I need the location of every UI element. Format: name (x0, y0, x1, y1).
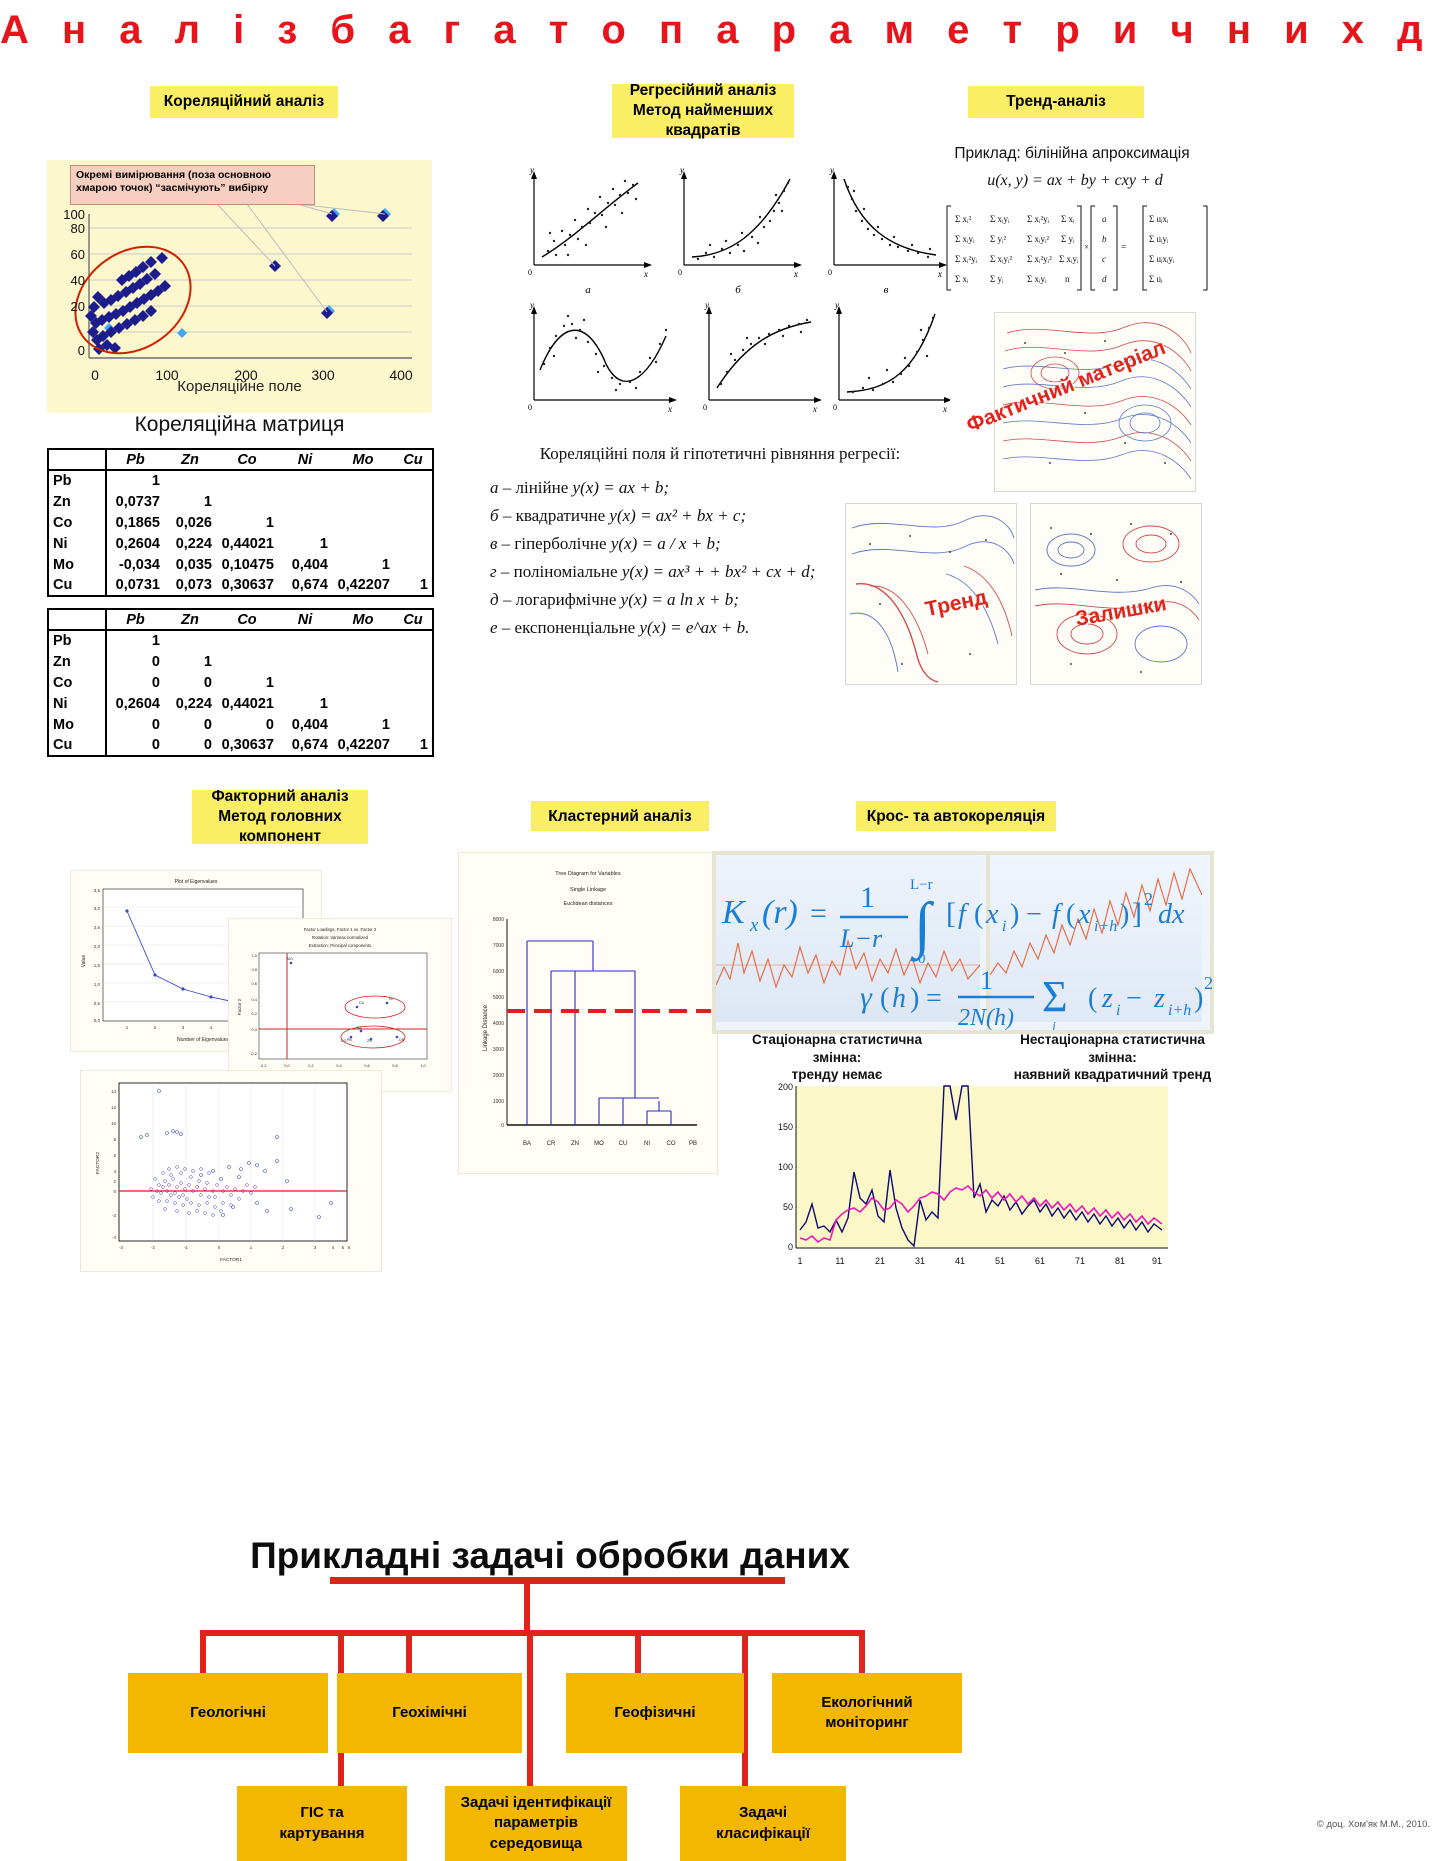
matrix1-r5-c2: 0,073 (164, 575, 216, 596)
regression-sample-plots: y x 0 а y x 0 (520, 165, 950, 420)
crosscorrelation-timeseries-chart: 200150100 500 11121 314151 617181 91 (772, 1080, 1172, 1280)
svg-text:3000: 3000 (493, 1047, 504, 1053)
svg-text:Σ yᵢ²: Σ yᵢ² (990, 234, 1006, 244)
matrix1-r5-c1: 0,0731 (106, 575, 164, 596)
svg-text:i: i (1052, 1020, 1056, 1030)
svg-text:0,8: 0,8 (251, 967, 257, 972)
section-header-factor-line1: Факторний аналіз (202, 787, 358, 807)
svg-text:ZN: ZN (367, 1039, 372, 1043)
svg-text:2,0: 2,0 (94, 944, 101, 949)
svg-text:y: y (679, 165, 684, 175)
svg-text:L−r: L−r (839, 924, 883, 953)
matrix2-r5-c6: 1 (394, 735, 433, 756)
app-box-classification-line1: Задачі (739, 1803, 787, 1823)
matrix1-r0-c6 (394, 470, 433, 491)
svg-text:2: 2 (1144, 889, 1153, 909)
svg-text:Linkage Distance: Linkage Distance (483, 1004, 489, 1051)
crosscorr-caption-left: Стаціонарна статистична змінна: тренду н… (742, 1031, 932, 1084)
svg-text:Σ uᵢxᵢyᵢ: Σ uᵢxᵢyᵢ (1149, 254, 1175, 264)
cluster-dendrogram-panel: Tree Diagram for Variables Single Linkag… (458, 852, 718, 1174)
svg-text:h: h (892, 983, 906, 1014)
regression-item-1-text: квадратичне (516, 506, 606, 525)
svg-text:z: z (1153, 983, 1165, 1014)
matrix2-r4-c1: 0 (106, 714, 164, 735)
matrix2-r5-c0: Cu (48, 735, 106, 756)
svg-text:x: x (1077, 899, 1091, 930)
svg-text:200: 200 (778, 1082, 793, 1092)
svg-text:150: 150 (778, 1122, 793, 1132)
svg-text:MO: MO (287, 957, 293, 961)
matrix2-r4-c5: 1 (332, 714, 394, 735)
svg-text:51: 51 (995, 1256, 1005, 1266)
matrix2-r3-c6 (394, 693, 433, 714)
title-underline (330, 1577, 785, 1584)
matrix1-col-6: Cu (394, 449, 433, 470)
svg-text:Σ xᵢ²yᵢ: Σ xᵢ²yᵢ (1027, 214, 1050, 224)
matrix2-col-0 (48, 609, 106, 630)
regression-item-2-eq: y(x) = a / x + b; (611, 534, 721, 553)
matrix1-col-1: Pb (106, 449, 164, 470)
svg-text:Σ xᵢ²yᵢ: Σ xᵢ²yᵢ (955, 254, 978, 264)
svg-text:i+h: i+h (1168, 1002, 1191, 1019)
svg-text:Σ xᵢ: Σ xᵢ (1061, 214, 1075, 224)
svg-text:21: 21 (875, 1256, 885, 1266)
matrix2-r3-c2: 0,224 (164, 693, 216, 714)
matrix2-r0-c6 (394, 630, 433, 651)
svg-text:6000: 6000 (493, 969, 504, 975)
svg-text:L−r: L−r (910, 877, 933, 893)
regression-item-4-eq: y(x) = a ln x + b; (621, 590, 739, 609)
svg-text:Σ xᵢyᵢ²: Σ xᵢyᵢ² (1027, 234, 1049, 244)
svg-text:14: 14 (111, 1089, 116, 1094)
regression-item-0-key: а (490, 478, 499, 497)
matrix2-r5-c3: 0,30637 (216, 735, 278, 756)
svg-text:0,2: 0,2 (308, 1063, 314, 1068)
svg-text:Σ xᵢ: Σ xᵢ (955, 274, 969, 284)
svg-text:]: ] (1132, 897, 1142, 930)
matrix1-r3-c5 (332, 533, 394, 554)
svg-text:x: x (749, 915, 759, 936)
matrix1-r3-c4: 1 (278, 533, 332, 554)
table-row: Ni 0,2604 0,224 0,44021 1 (48, 533, 433, 554)
matrix1-r3-c2: 0,224 (164, 533, 216, 554)
svg-text:2N(h): 2N(h) (958, 1005, 1014, 1030)
factor-scatter-plot: 141210 864 20-2-4 -3-2-1 012 3456 FACTOR… (81, 1071, 381, 1271)
matrix1-r2-c2: 0,026 (164, 512, 216, 533)
svg-text:x: x (812, 404, 817, 414)
app-box-gis-line1: ГІС та (300, 1803, 343, 1823)
trend-formula: u(x, y) = ax + by + cxy + d (930, 172, 1220, 190)
matrix1-col-4: Ni (278, 449, 332, 470)
matrix2-r2-c5 (332, 672, 394, 693)
svg-text:0: 0 (703, 403, 707, 412)
matrix2-r1-c2: 1 (164, 651, 216, 672)
svg-text:Euclidean distances: Euclidean distances (564, 901, 613, 907)
matrix1-r2-c6 (394, 512, 433, 533)
svg-text:Number of Eigenvalues: Number of Eigenvalues (177, 1037, 229, 1043)
matrix2-col-6: Cu (394, 609, 433, 630)
svg-text:=: = (926, 983, 942, 1014)
matrix2-r1-c6 (394, 651, 433, 672)
svg-text:-2: -2 (112, 1213, 116, 1218)
matrix1-r4-c5: 1 (332, 554, 394, 575)
regression-item-4-text: логарифмічне (516, 590, 617, 609)
regression-item-0: а – лінійне y(x) = ax + b; (490, 474, 950, 502)
matrix1-r4-c3: 0,10475 (216, 554, 278, 575)
matrix2-r5-c1: 0 (106, 735, 164, 756)
regression-equations-header: Кореляційні поля й гіпотетичні рівняння … (490, 440, 950, 468)
svg-text:81: 81 (1115, 1256, 1125, 1266)
regression-item-4-key: д (490, 590, 499, 609)
svg-text:1: 1 (797, 1256, 802, 1266)
factor-scatter-panel: 141210 864 20-2-4 -3-2-1 012 3456 FACTOR… (80, 1070, 382, 1272)
factor-loadings-panel: Factor Loadings, Factor 1 vs. Factor 2 R… (228, 918, 452, 1092)
section-header-cluster: Кластерний аналіз (531, 801, 709, 831)
regression-item-2-key: в (490, 534, 497, 553)
matrix1-r4-c2: 0,035 (164, 554, 216, 575)
matrix1-r2-c0: Co (48, 512, 106, 533)
svg-text:CU: CU (619, 1141, 628, 1147)
factor-loadings-plot: Factor Loadings, Factor 1 vs. Factor 2 R… (229, 919, 451, 1091)
svg-text:0: 0 (678, 268, 682, 277)
matrix1-r4-c6 (394, 554, 433, 575)
matrix2-r2-c4 (278, 672, 332, 693)
regression-item-1-key: б (490, 506, 499, 525)
svg-text:(: ( (1088, 983, 1097, 1014)
svg-text:Extraction: Principal componen: Extraction: Principal components (309, 943, 372, 948)
contour-map-trend (845, 503, 1017, 685)
svg-text:г: г (600, 419, 605, 420)
matrix2-r3-c5 (332, 693, 394, 714)
svg-text:−: − (1026, 899, 1042, 930)
matrix1-r4-c0: Mo (48, 554, 106, 575)
svg-text:x: x (667, 404, 672, 414)
svg-text:60: 60 (71, 247, 85, 262)
trend-example-label: Приклад: білінійна апроксимація (947, 145, 1197, 163)
crosscorr-caption-left-l2: змінна: (742, 1049, 932, 1067)
matrix2-r1-c5 (332, 651, 394, 672)
svg-text:40: 40 (71, 273, 85, 288)
svg-text:50: 50 (783, 1202, 793, 1212)
matrix2-r2-c0: Co (48, 672, 106, 693)
matrix2-r5-c2: 0 (164, 735, 216, 756)
svg-text:PB: PB (689, 1141, 697, 1147)
svg-text:[: [ (946, 897, 956, 930)
svg-text:71: 71 (1075, 1256, 1085, 1266)
svg-text:0,6: 0,6 (364, 1063, 370, 1068)
matrix1-r5-c0: Cu (48, 575, 106, 596)
svg-text:d: d (1102, 274, 1107, 284)
table-row: Pb 1 (48, 630, 433, 651)
svg-text:PB: PB (347, 1038, 352, 1042)
svg-text:CU: CU (359, 1001, 365, 1005)
svg-text:Σ uᵢyᵢ: Σ uᵢyᵢ (1149, 234, 1169, 244)
connector-trunk (524, 1584, 530, 1636)
svg-text:x: x (937, 269, 942, 279)
matrix2-r2-c2: 0 (164, 672, 216, 693)
svg-text:-3: -3 (119, 1245, 123, 1250)
svg-text:Σ uᵢxᵢ: Σ uᵢxᵢ (1149, 214, 1169, 224)
matrix1-r4-c4: 0,404 (278, 554, 332, 575)
section-header-factor: Факторний аналіз Метод головних компонен… (192, 790, 368, 844)
cluster-dendrogram: Tree Diagram for Variables Single Linkag… (459, 853, 717, 1173)
app-box-geophysical[interactable]: Геофізичні (566, 1673, 744, 1753)
matrix2-r3-c3: 0,44021 (216, 693, 278, 714)
svg-text:f: f (958, 899, 969, 930)
svg-text:n: n (1065, 274, 1070, 284)
svg-text:x: x (942, 404, 947, 414)
svg-text:а: а (585, 284, 591, 296)
svg-text:Σ xᵢyᵢ: Σ xᵢyᵢ (955, 234, 975, 244)
section-header-correlation: Кореляційний аналіз (150, 86, 338, 118)
app-box-geological[interactable]: Геологічні (128, 1673, 328, 1753)
app-box-identification-line1: Задачі ідентифікації (461, 1793, 612, 1813)
matrix2-r4-c3: 0 (216, 714, 278, 735)
svg-text:y: y (829, 165, 834, 175)
svg-text:FACTOR2: FACTOR2 (95, 1152, 101, 1174)
table-row: Cu 0 0 0,30637 0,674 0,42207 1 (48, 735, 433, 756)
matrix2-r3-c0: Ni (48, 693, 106, 714)
svg-text:0: 0 (501, 1123, 504, 1129)
svg-text:y: y (704, 300, 709, 310)
regression-item-5-key: е (490, 618, 498, 637)
section-header-regression-line3: квадратів (622, 121, 784, 141)
svg-text:c: c (1102, 254, 1106, 264)
svg-text:0,4: 0,4 (251, 997, 257, 1002)
svg-text:Tree Diagram for Variables: Tree Diagram for Variables (555, 871, 621, 877)
svg-text:8000: 8000 (493, 917, 504, 923)
svg-text:1,0: 1,0 (420, 1063, 426, 1068)
table-row: Ni 0,2604 0,224 0,44021 1 (48, 693, 433, 714)
svg-text:2000: 2000 (493, 1073, 504, 1079)
matrix2-r4-c6 (394, 714, 433, 735)
svg-text:): ) (1194, 983, 1203, 1014)
svg-text:): ) (1120, 899, 1129, 930)
svg-text:0: 0 (828, 268, 832, 277)
svg-text:3,5: 3,5 (94, 888, 101, 893)
regression-item-5-eq: y(x) = e^ax + b. (639, 618, 749, 637)
section-header-factor-line3: компонент (202, 827, 358, 847)
svg-text:-0,2: -0,2 (250, 1051, 258, 1056)
table-row: Mo 0 0 0 0,404 1 (48, 714, 433, 735)
svg-text:x: x (985, 899, 999, 930)
correlation-field-caption: Кореляційне поле (47, 378, 432, 395)
svg-text:-4: -4 (112, 1235, 116, 1240)
matrix2-col-1: Pb (106, 609, 164, 630)
svg-text:Σ uᵢ: Σ uᵢ (1149, 274, 1163, 284)
matrix1-r1-c5 (332, 491, 394, 512)
regression-item-0-text: лінійне (516, 478, 569, 497)
svg-text:i: i (1116, 1002, 1120, 1019)
svg-text:0,0: 0,0 (284, 1063, 290, 1068)
matrix1-r3-c6 (394, 533, 433, 554)
matrix1-r3-c3: 0,44021 (216, 533, 278, 554)
app-box-gis-mapping[interactable]: ГІС та картування (237, 1786, 407, 1861)
svg-text:Factor Loadings, Factor 1 vs.: Factor Loadings, Factor 1 vs. Factor 2 (304, 927, 377, 932)
svg-text:-1: -1 (184, 1245, 188, 1250)
regression-item-3-key: г (490, 562, 497, 581)
svg-text:z: z (1101, 983, 1113, 1014)
matrix2-r0-c0: Pb (48, 630, 106, 651)
app-box-ecological-monitoring[interactable]: Екологічний моніторинг (772, 1673, 962, 1753)
matrix1-r2-c1: 0,1865 (106, 512, 164, 533)
svg-text:д: д (758, 419, 764, 420)
svg-text:CO: CO (667, 1141, 676, 1147)
table-row: Co 0 0 1 (48, 672, 433, 693)
matrix2-r0-c1: 1 (106, 630, 164, 651)
matrix1-r2-c4 (278, 512, 332, 533)
svg-text:80: 80 (71, 221, 85, 236)
matrix1-r4-c1: -0,034 (106, 554, 164, 575)
svg-text:CR: CR (547, 1141, 556, 1147)
matrix1-r5-c6: 1 (394, 575, 433, 596)
app-box-classification-tasks[interactable]: Задачі класифікації (680, 1786, 846, 1861)
svg-text:(r): (r) (762, 894, 798, 931)
svg-text:1: 1 (980, 966, 993, 995)
svg-text:0,0: 0,0 (94, 1018, 101, 1023)
regression-item-2-text: гіперболічне (514, 534, 606, 553)
matrix1-r0-c0: Pb (48, 470, 106, 491)
svg-text:7000: 7000 (493, 943, 504, 949)
regression-item-0-eq: y(x) = ax + b; (573, 478, 670, 497)
section-header-trend: Тренд-аналіз (968, 86, 1144, 118)
app-box-classification-line2: класифікації (716, 1824, 810, 1844)
svg-text:61: 61 (1035, 1256, 1045, 1266)
svg-text:f: f (1052, 899, 1063, 930)
svg-text:b: b (1102, 234, 1107, 244)
svg-text:): ) (1010, 899, 1019, 930)
regression-item-3-text: поліноміальне (514, 562, 618, 581)
svg-text:(: ( (1066, 899, 1075, 930)
svg-text:0,4: 0,4 (336, 1063, 342, 1068)
svg-text:Σ: Σ (1042, 972, 1068, 1021)
matrix2-r3-c4: 1 (278, 693, 332, 714)
matrix1-col-0 (48, 449, 106, 470)
table-row: Zn 0 1 (48, 651, 433, 672)
svg-text:Σ xᵢ²: Σ xᵢ² (955, 214, 971, 224)
svg-text:K: K (721, 894, 747, 931)
svg-text:Σ xᵢyᵢ: Σ xᵢyᵢ (1027, 274, 1047, 284)
correlation-callout: Окремі вимірювання (поза основною хмарою… (70, 165, 315, 205)
matrix1-r3-c0: Ni (48, 533, 106, 554)
matrix1-col-3: Co (216, 449, 278, 470)
regression-item-5-text: експоненціальне (515, 618, 636, 637)
svg-text:0,8: 0,8 (392, 1063, 398, 1068)
table-header-row: Pb Zn Co Ni Mo Cu (48, 609, 433, 630)
matrix1-r0-c2 (164, 470, 216, 491)
matrix2-r0-c2 (164, 630, 216, 651)
svg-text:12: 12 (111, 1105, 116, 1110)
svg-text:1000: 1000 (493, 1099, 504, 1105)
app-box-geochemical[interactable]: Геохімічні (337, 1673, 522, 1753)
correlation-matrix-title: Кореляційна матриця (47, 413, 432, 437)
table-row: Cu 0,0731 0,073 0,30637 0,674 0,42207 1 (48, 575, 433, 596)
svg-text:ZN: ZN (571, 1141, 579, 1147)
footer-copyright: © доц. Хом'як М.М., 2010. (1317, 1819, 1430, 1830)
matrix2-col-5: Mo (332, 609, 394, 630)
svg-text:41: 41 (955, 1256, 965, 1266)
applications-title: Прикладні задачі обробки даних (0, 1535, 1100, 1577)
regression-item-1-eq: y(x) = ax² + bx + c; (609, 506, 746, 525)
app-box-ecological-line1: Екологічний (821, 1693, 912, 1713)
svg-text:0,5: 0,5 (94, 1001, 101, 1006)
section-header-regression-line2: Метод найменших (622, 101, 784, 121)
regression-item-3-eq: y(x) = ax³ + + bx² + cx + d; (622, 562, 816, 581)
svg-text:i: i (1002, 918, 1006, 935)
section-header-regression: Регресійний аналіз Метод найменших квадр… (612, 84, 794, 138)
svg-text:1,0: 1,0 (94, 982, 101, 987)
matrix2-r4-c0: Mo (48, 714, 106, 735)
svg-text:dx: dx (1158, 899, 1185, 930)
matrix2-r1-c3 (216, 651, 278, 672)
section-header-crosscorr: Крос- та автокореляція (856, 801, 1056, 831)
svg-text:Σ xᵢyᵢ²: Σ xᵢyᵢ² (990, 254, 1012, 264)
svg-text:0: 0 (833, 403, 837, 412)
section-header-regression-line1: Регресійний аналіз (622, 81, 784, 101)
svg-text:31: 31 (915, 1256, 925, 1266)
svg-text:NI: NI (644, 1141, 650, 1147)
svg-text:i+h: i+h (1094, 918, 1117, 935)
matrix1-r1-c3 (216, 491, 278, 512)
matrix2-r1-c0: Zn (48, 651, 106, 672)
matrix1-col-5: Mo (332, 449, 394, 470)
crosscorr-caption-left-l1: Стаціонарна статистична (742, 1031, 932, 1049)
matrix1-r2-c5 (332, 512, 394, 533)
svg-text:y: y (529, 165, 534, 175)
svg-text:(: ( (974, 899, 983, 930)
matrix2-r0-c5 (332, 630, 394, 651)
svg-text:100: 100 (778, 1162, 793, 1172)
matrix2-r4-c2: 0 (164, 714, 216, 735)
svg-text:2: 2 (1204, 973, 1212, 993)
trend-matrix-equation: Σ xᵢ²Σ xᵢyᵢΣ xᵢ²yᵢΣ xᵢ Σ xᵢyᵢΣ yᵢ²Σ xᵢyᵢ… (945, 198, 1210, 298)
svg-text:FACTOR1: FACTOR1 (220, 1257, 242, 1263)
svg-text:×: × (1084, 242, 1089, 252)
svg-text:в: в (884, 284, 889, 296)
svg-text:Factor 2: Factor 2 (237, 998, 242, 1015)
table-row: Co 0,1865 0,026 1 (48, 512, 433, 533)
svg-text:10: 10 (111, 1121, 116, 1126)
matrix1-r1-c4 (278, 491, 332, 512)
svg-text:1,0: 1,0 (251, 953, 257, 958)
page-title: А н а л і з б а г а т о п а р а м е т р … (0, 8, 1442, 53)
svg-text:0,6: 0,6 (251, 981, 257, 986)
connector-drop-6 (527, 1636, 533, 1788)
matrix2-r0-c4 (278, 630, 332, 651)
svg-text:0: 0 (918, 951, 926, 967)
svg-text:=: = (1121, 242, 1126, 252)
matrix2-r1-c1: 0 (106, 651, 164, 672)
table-row: Pb 1 (48, 470, 433, 491)
svg-text:): ) (910, 983, 919, 1014)
svg-text:3,0: 3,0 (94, 906, 101, 911)
app-box-identification-tasks[interactable]: Задачі ідентифікації параметрів середови… (445, 1786, 627, 1861)
svg-text:a: a (1102, 214, 1107, 224)
svg-text:20: 20 (71, 299, 85, 314)
matrix2-r1-c4 (278, 651, 332, 672)
matrix1-r2-c3: 1 (216, 512, 278, 533)
svg-text:Rotation: Varimax normalized: Rotation: Varimax normalized (312, 935, 369, 940)
crosscorrelation-formulas: K x (r) = 1 L−r ∫ L−r 0 [ f ( x i ) − f … (712, 855, 1212, 1030)
svg-text:1: 1 (860, 881, 875, 914)
svg-text:0,0: 0,0 (251, 1027, 257, 1032)
svg-text:2,5: 2,5 (94, 925, 101, 930)
matrix2-col-2: Zn (164, 609, 216, 630)
svg-text:y: y (834, 300, 839, 310)
svg-text:4000: 4000 (493, 1021, 504, 1027)
svg-text:0: 0 (528, 403, 532, 412)
svg-text:=: = (810, 897, 827, 930)
